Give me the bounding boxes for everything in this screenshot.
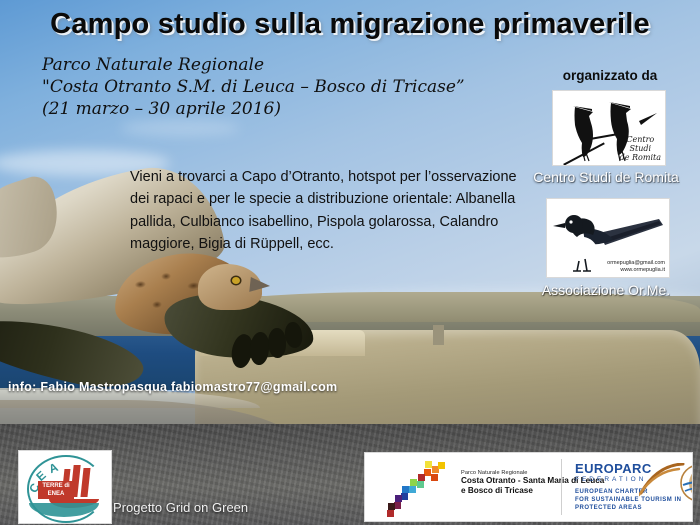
cloud-wisp	[120, 120, 240, 136]
organizers-heading: organizzato da	[520, 68, 700, 83]
footer-logo-strip: Parco Naturale Regionale Costa Otranto -…	[364, 452, 693, 522]
subtitle-line-area: "Costa Otranto S.M. di Leuca – Bosco di …	[42, 76, 562, 98]
europarc-globe-icon	[679, 463, 693, 503]
parco-mosaic-icon	[387, 461, 449, 515]
organizer-caption-orme: Associazione Or.Me.	[516, 282, 696, 298]
body-copy: Vieni a trovarci a Capo d’Otranto, hotsp…	[130, 166, 520, 255]
raptor-beak	[249, 277, 270, 294]
cea-terre-di-enea-logo: C E A TERRE di ENEA	[18, 450, 112, 524]
europarc-block: EUROPARC FEDERATION EUROPEAN CHARTER FOR…	[575, 461, 681, 512]
poster-canvas: Campo studio sulla migrazione primaveril…	[0, 0, 700, 525]
romita-script-text: Centro Studi de Romita	[620, 135, 661, 162]
centro-studi-de-romita-logo: Centro Studi de Romita	[552, 90, 666, 166]
page-title: Campo studio sulla migrazione primaveril…	[0, 8, 700, 41]
logo-divider	[561, 459, 562, 515]
organizer-caption-romita: Centro Studi de Romita	[516, 169, 696, 185]
subtitle-line-dates: (21 marzo – 30 aprile 2016)	[42, 98, 562, 120]
cea-badge: TERRE di ENEA	[38, 481, 74, 499]
subtitle-line-park: Parco Naturale Regionale	[42, 54, 562, 76]
coastal-tower	[433, 325, 444, 345]
raptor-eye	[232, 277, 240, 284]
subtitle-block: Parco Naturale Regionale "Costa Otranto …	[42, 54, 562, 120]
associazione-orme-logo: ormepuglia@gmail.com www.ormepuglia.it	[546, 198, 670, 278]
raptor-primary-feather	[268, 328, 286, 358]
orme-contact-text: ormepuglia@gmail.com www.ormepuglia.it	[607, 260, 665, 274]
contact-info: info: Fabio Mastropasqua fabiomastro77@g…	[8, 380, 337, 394]
project-label: Progetto Grid on Green	[113, 500, 248, 515]
